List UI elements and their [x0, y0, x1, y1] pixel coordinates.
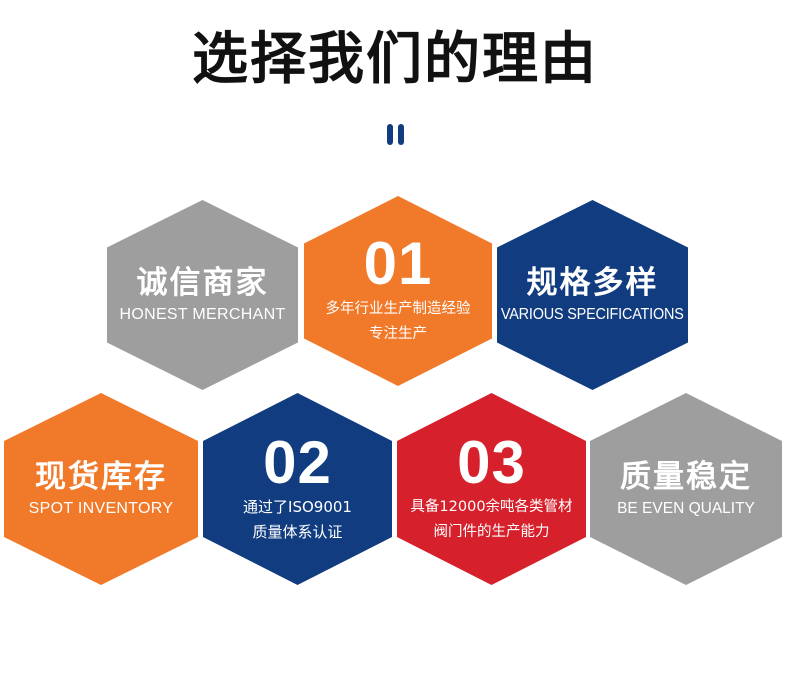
hex-cn-title: 规格多样 [527, 264, 659, 302]
hex-cn-title: 现货库存 [35, 458, 167, 496]
hex-en-subtitle: VARIOUS SPECIFICATIONS [501, 304, 684, 326]
hex-description: 具备12000余吨各类管材 阀门件的生产能力 [410, 495, 572, 545]
hex-reason-01[interactable]: 01 多年行业生产制造经验 专注生产 [304, 196, 492, 386]
hex-description: 通过了ISO9001 质量体系认证 [243, 495, 352, 545]
infographic-page: 选择我们的理由 诚信商家 HONEST MERCHANT 01 多年行业生产制造… [0, 0, 790, 680]
hex-description-line-2: 专注生产 [369, 322, 427, 347]
hex-cn-title: 质量稳定 [620, 458, 752, 496]
hex-number: 03 [457, 434, 526, 492]
hex-en-subtitle: BE EVEN QUALITY [617, 498, 755, 520]
hex-be-even-quality[interactable]: 质量稳定 BE EVEN QUALITY [590, 393, 782, 585]
hex-spot-inventory[interactable]: 现货库存 SPOT INVENTORY [4, 393, 198, 585]
hex-description: 多年行业生产制造经验 专注生产 [326, 297, 471, 347]
hex-reason-03[interactable]: 03 具备12000余吨各类管材 阀门件的生产能力 [397, 393, 586, 585]
hex-description-line-1: 通过了ISO9001 [243, 495, 352, 520]
hex-en-subtitle: HONEST MERCHANT [120, 304, 286, 326]
hex-description-line-1: 多年行业生产制造经验 [326, 297, 471, 322]
hex-description-line-2: 阀门件的生产能力 [433, 520, 549, 545]
hex-description-line-2: 质量体系认证 [252, 520, 342, 545]
hex-honest-merchant[interactable]: 诚信商家 HONEST MERCHANT [107, 200, 298, 390]
hex-number: 02 [263, 434, 332, 492]
hex-various-specifications[interactable]: 规格多样 VARIOUS SPECIFICATIONS [497, 200, 688, 390]
hex-reason-02[interactable]: 02 通过了ISO9001 质量体系认证 [203, 393, 392, 585]
hex-number: 01 [364, 235, 433, 293]
hex-description-line-1: 具备12000余吨各类管材 [410, 495, 572, 520]
hexagon-grid: 诚信商家 HONEST MERCHANT 01 多年行业生产制造经验 专注生产 … [0, 0, 790, 680]
hex-en-subtitle: SPOT INVENTORY [29, 498, 174, 520]
hex-cn-title: 诚信商家 [137, 264, 269, 302]
